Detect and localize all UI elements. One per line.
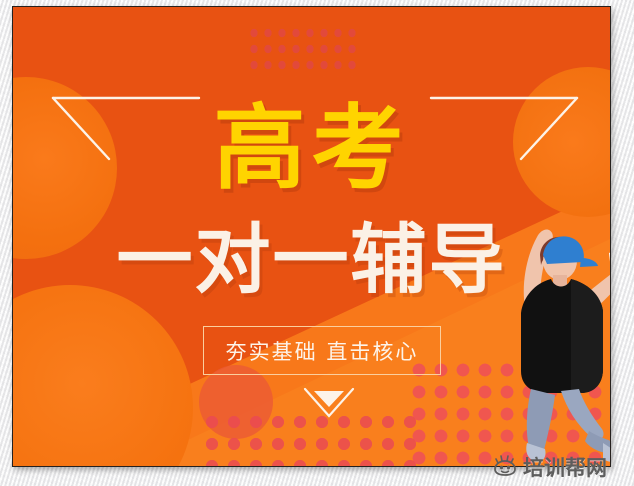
chevron-down-arrow-icon (301, 385, 357, 421)
poster-subline: 一对一辅导 (13, 222, 610, 298)
poster-headline: 高考 (13, 103, 610, 195)
tagline-box: 夯实基础 直击核心 (203, 326, 441, 375)
watermark-text: 培训帮网 (523, 452, 607, 482)
smiley-sun-icon (493, 454, 517, 481)
poster-canvas: 高考 一对一辅导 夯实基础 直击核心 (0, 0, 634, 486)
tagline-text: 夯实基础 直击核心 (226, 336, 419, 366)
watermark: 培训帮网 (493, 452, 607, 482)
poster-artwork: 高考 一对一辅导 夯实基础 直击核心 (12, 6, 611, 467)
dot-grid-top (247, 25, 357, 77)
